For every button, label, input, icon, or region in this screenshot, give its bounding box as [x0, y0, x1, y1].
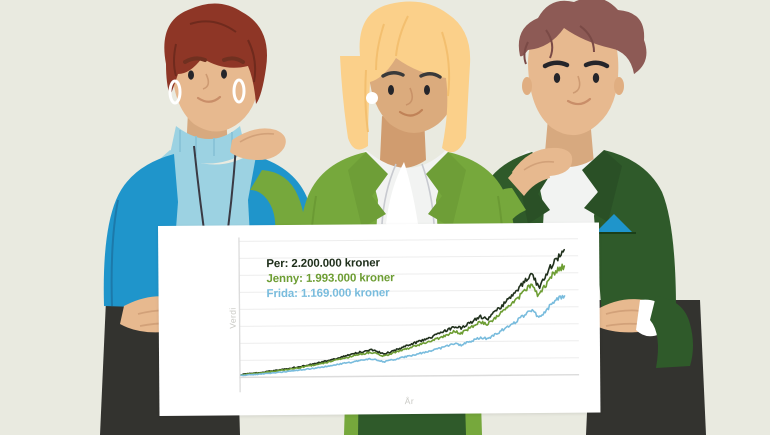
right-person-ear-right — [614, 77, 624, 95]
gridline — [240, 341, 579, 344]
chart-card: Verdi År Per: 2.200.000 kroner Jenny: 1.… — [158, 223, 600, 416]
y-axis-label: Verdi — [228, 307, 238, 328]
x-axis-line — [239, 375, 579, 378]
center-person-earring — [366, 92, 378, 104]
legend-item-frida: Frida: 1.169.000 kroner — [266, 286, 394, 302]
legend-item-jenny: Jenny: 1.993.000 kroner — [266, 271, 394, 287]
y-axis-line — [239, 237, 240, 392]
gridline — [239, 239, 578, 242]
gridline — [240, 307, 579, 310]
right-person-eye-right — [593, 73, 599, 83]
x-axis-label: År — [405, 396, 414, 406]
right-person-ear-left — [522, 77, 532, 95]
chart-legend: Per: 2.200.000 kroner Jenny: 1.993.000 k… — [266, 256, 394, 302]
right-person-eye-left — [554, 73, 560, 83]
gridline — [240, 358, 579, 361]
gridline — [240, 324, 579, 327]
center-person-eye-right — [424, 85, 430, 95]
center-person-eye-left — [388, 85, 394, 95]
left-person-eye-left — [188, 70, 194, 79]
legend-item-per: Per: 2.200.000 kroner — [266, 256, 394, 272]
left-person-eye-right — [221, 69, 227, 78]
